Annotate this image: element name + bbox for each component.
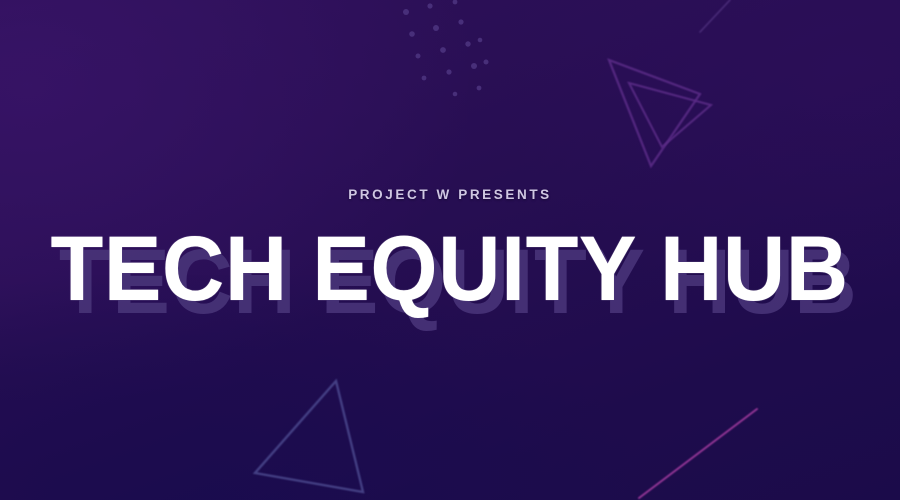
promo-banner: PROJECT W PRESENTS TECH EQUITY HUB — [0, 0, 900, 500]
banner-eyebrow: PROJECT W PRESENTS — [348, 188, 552, 202]
banner-content: PROJECT W PRESENTS TECH EQUITY HUB — [0, 0, 900, 500]
banner-title: TECH EQUITY HUB — [51, 227, 849, 312]
